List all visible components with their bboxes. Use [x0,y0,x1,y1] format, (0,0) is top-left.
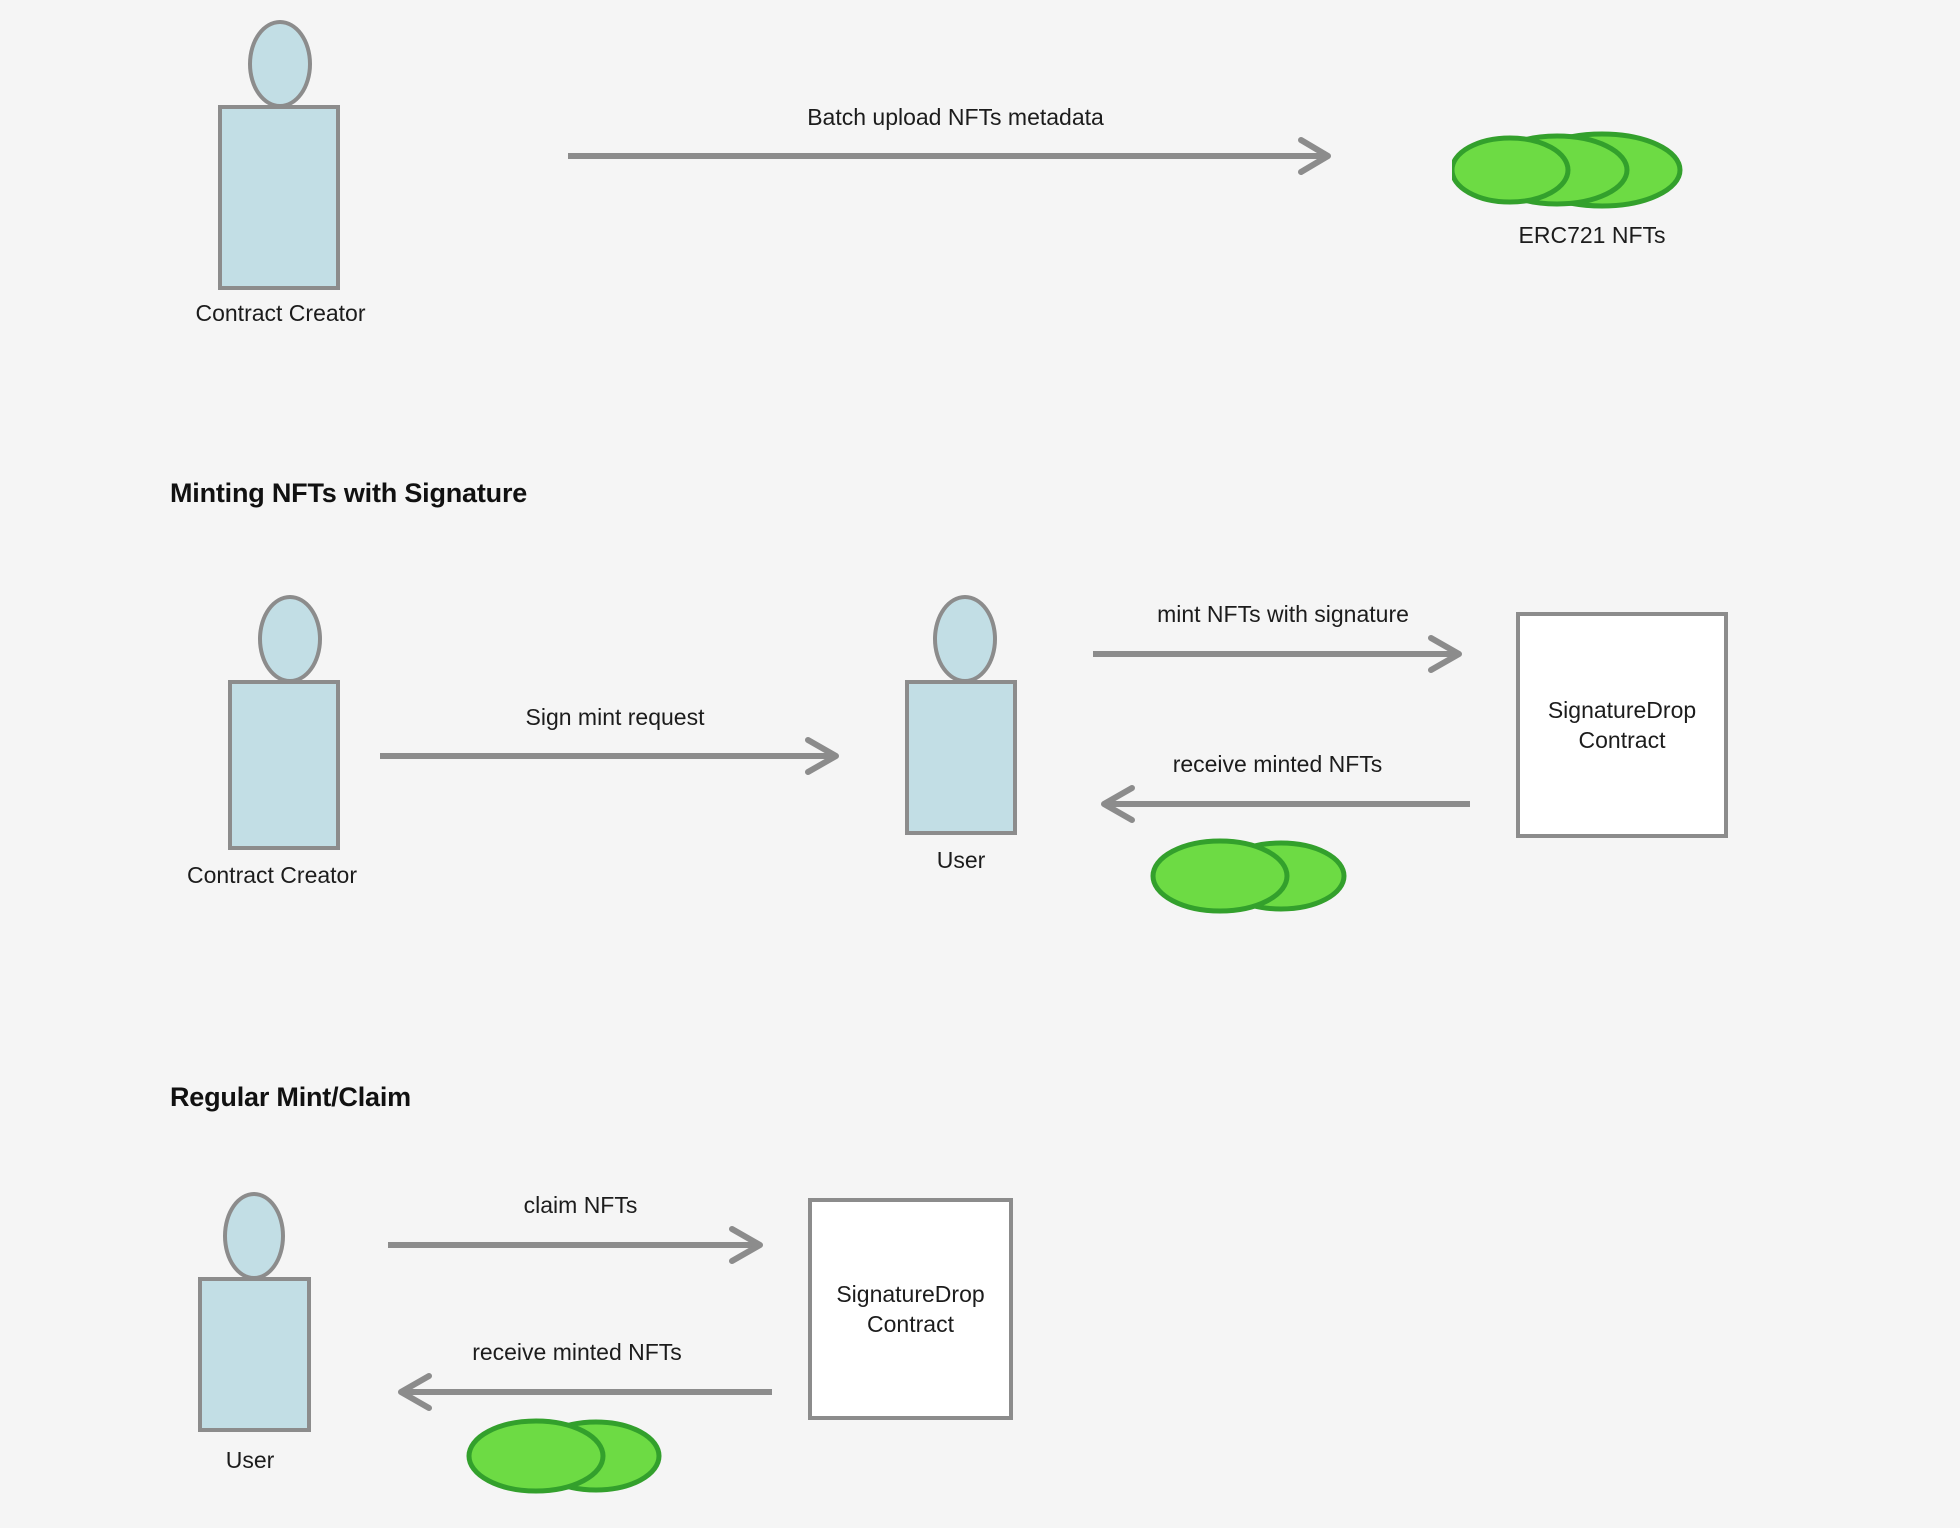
arrow-label: claim NFTs [524,1192,638,1219]
actor-body-icon [198,1277,311,1432]
nft-cluster-minted-3 [466,1410,686,1500]
arrow-shape [388,1229,773,1261]
section-heading-regular-mint: Regular Mint/Claim [170,1082,411,1113]
arrow-label: receive minted NFTs [472,1339,682,1366]
diagram-canvas: Contract Creator Batch upload NFTs metad… [0,0,1960,1528]
nft-ellipses-icon [466,1410,686,1500]
arrow-receive-minted-nfts-3: receive minted NFTs [382,1376,772,1408]
actor-user-3: User [198,1192,313,1492]
actor-head-icon [223,1192,285,1280]
arrow-shape [382,1376,772,1408]
arrow-claim-nfts: claim NFTs [388,1229,773,1261]
box-signature-drop-contract-3: SignatureDrop Contract [808,1198,1013,1420]
actor-label: User [226,1447,275,1474]
section-regular-mint-claim: Regular Mint/Claim User claim NFTs recei… [0,0,1960,1528]
box-label: SignatureDrop Contract [836,1279,984,1340]
